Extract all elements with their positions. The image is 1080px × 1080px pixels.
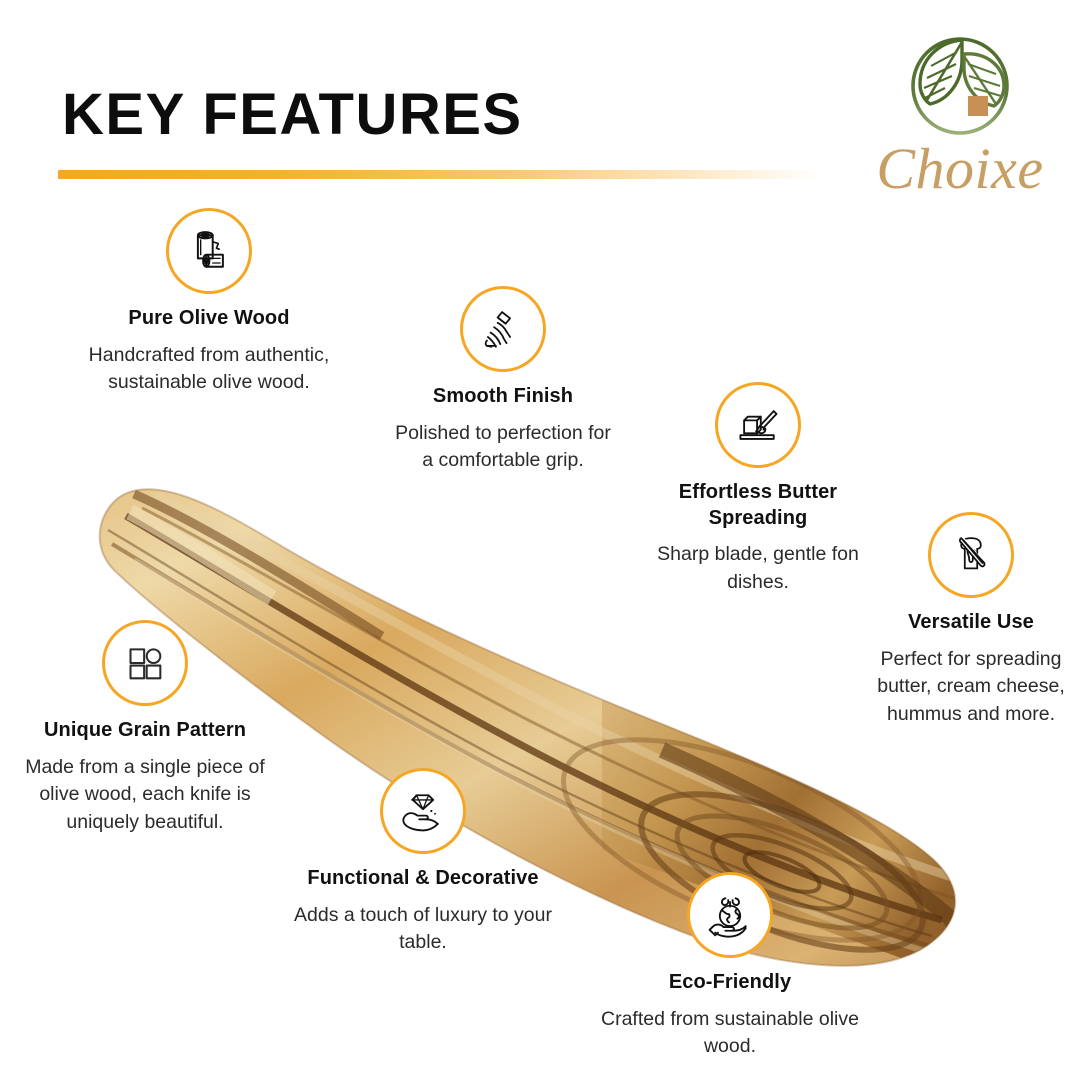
feature-title: Pure Olive Wood: [68, 306, 350, 332]
feature-item-functional-decorative: Functional & Decorative Adds a touch of …: [292, 768, 554, 957]
feature-description: Made from a single piece of olive wood, …: [14, 754, 276, 837]
feature-title: Smooth Finish: [388, 384, 618, 410]
feature-item-effortless-butter-spreading: Effortless Butter Spreading Sharp blade,…: [638, 382, 878, 597]
feature-item-unique-grain-pattern: Unique Grain Pattern Made from a single …: [14, 620, 276, 837]
feature-title: Effortless Butter Spreading: [638, 480, 878, 531]
butter-block-knife-icon: [715, 382, 801, 468]
title-underline-rule: [58, 170, 818, 179]
brand-logo: Choixe: [860, 22, 1060, 212]
feature-description: Polished to perfection for a comfortable…: [388, 420, 618, 475]
feature-title: Unique Grain Pattern: [14, 718, 276, 744]
feature-item-versatile-use: Versatile Use Perfect for spreading butt…: [860, 512, 1080, 729]
page-title: KEY FEATURES: [62, 86, 523, 144]
olive-leaves-circle-logo-icon: [900, 30, 1020, 142]
feature-description: Handcrafted from authentic, sustainable …: [68, 342, 350, 397]
feature-item-eco-friendly: Eco-Friendly Crafted from sustainable ol…: [600, 872, 860, 1061]
grain-pattern-grid-icon: [102, 620, 188, 706]
feature-title: Eco-Friendly: [600, 970, 860, 996]
hand-earth-leaf-icon: [687, 872, 773, 958]
feature-item-pure-olive-wood: Pure Olive Wood Handcrafted from authent…: [68, 208, 350, 397]
feature-description: Sharp blade, gentle fon dishes.: [638, 541, 878, 596]
feature-item-smooth-finish: Smooth Finish Polished to perfection for…: [388, 286, 618, 475]
brand-name: Choixe: [860, 140, 1060, 198]
feature-title: Functional & Decorative: [292, 866, 554, 892]
wood-log-icon: [166, 208, 252, 294]
feature-description: Perfect for spreading butter, cream chee…: [855, 646, 1080, 729]
hand-diamond-icon: [380, 768, 466, 854]
bread-slice-knife-icon: [928, 512, 1014, 598]
feature-description: Crafted from sustainable olive wood.: [596, 1006, 864, 1061]
infographic-canvas: KEY FEATURES: [0, 0, 1080, 1080]
feature-title: Versatile Use: [860, 610, 1080, 636]
sanding-hand-icon: [460, 286, 546, 372]
feature-description: Adds a touch of luxury to your table.: [292, 902, 554, 957]
